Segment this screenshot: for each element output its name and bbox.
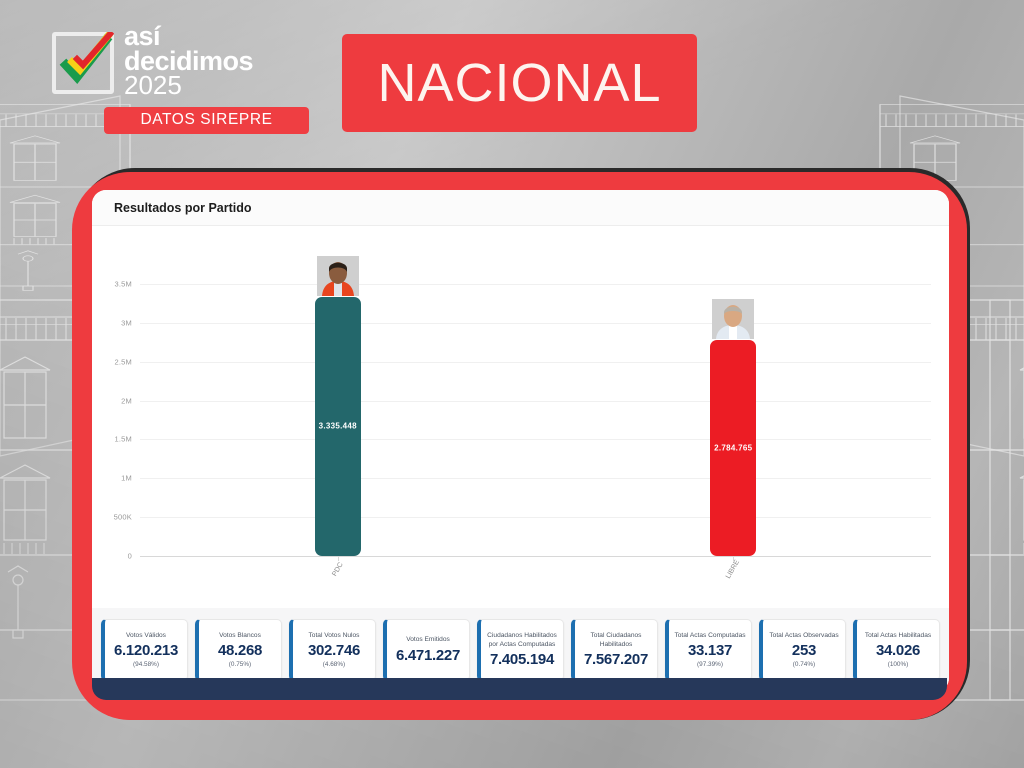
stat-card-value: 7.405.194	[490, 651, 554, 668]
x-axis-category-label: PDC	[331, 561, 344, 577]
stat-card-value: 33.137	[688, 642, 732, 659]
stat-card[interactable]: Votos Emitidos6.471.227	[383, 619, 470, 681]
stat-card-percent: (4.68%)	[323, 661, 345, 668]
stat-card[interactable]: Votos Blancos48.268(0.75%)	[195, 619, 282, 681]
y-axis-tick-label: 2M	[121, 396, 132, 405]
chart-gridline	[140, 517, 931, 518]
logo-tagline: DATOS SIREPRE	[104, 107, 309, 134]
stat-card-label: Total Votos Nulos	[309, 632, 360, 640]
stat-card-value: 302.746	[308, 642, 360, 659]
chart-gridline	[140, 362, 931, 363]
stat-card-percent: (97.39%)	[697, 661, 723, 668]
stat-card-label: Votos Blancos	[219, 632, 261, 640]
y-axis-tick-label: 2.5M	[115, 357, 132, 366]
chart-gridline	[140, 439, 931, 440]
chart-plot-area: 3.335.448PDC2.784.765LIBRE	[140, 284, 931, 556]
results-frame: Resultados por Partido 0500K1M1.5M2M2.5M…	[72, 172, 967, 720]
stat-card-percent: (0.74%)	[793, 661, 815, 668]
y-axis-tick-label: 1.5M	[115, 435, 132, 444]
results-chart: 0500K1M1.5M2M2.5M3M3.5M 3.335.448PDC2.78…	[92, 226, 949, 608]
chart-bar-libre[interactable]: 2.784.765	[710, 340, 756, 556]
stat-card-label: Votos Emitidos	[406, 636, 450, 644]
chart-gridline	[140, 401, 931, 402]
results-panel: Resultados por Partido 0500K1M1.5M2M2.5M…	[92, 190, 949, 692]
scope-banner-title: NACIONAL	[377, 52, 661, 114]
panel-title-bar: Resultados por Partido	[92, 190, 949, 226]
chart-bar-value-label: 2.784.765	[714, 443, 752, 452]
stat-card-value: 7.567.207	[584, 651, 648, 668]
checkmark-icon	[52, 32, 114, 94]
y-axis-tick-label: 3.5M	[115, 280, 132, 289]
stat-card[interactable]: Ciudadanos Habilitados por Actas Computa…	[477, 619, 564, 681]
candidate-photo-pdc	[317, 256, 359, 296]
frame-navy-band	[92, 678, 947, 700]
chart-bar-slot: 2.784.765LIBRE	[710, 284, 756, 556]
stat-card[interactable]: Votos Válidos6.120.213(94.58%)	[101, 619, 188, 681]
stat-card[interactable]: Total Actas Computadas33.137(97.39%)	[665, 619, 752, 681]
stat-card-label: Votos Válidos	[126, 632, 166, 640]
y-axis-tick-label: 500K	[114, 513, 132, 522]
stat-card-label: Total Actas Computadas	[674, 632, 745, 640]
candidate-photo-libre	[712, 299, 754, 339]
stat-card-label: Total Actas Habilitadas	[865, 632, 931, 640]
brand-logo: así decidimos 2025 DATOS SIREPRE	[52, 24, 322, 134]
stat-card-value: 34.026	[876, 642, 920, 659]
x-axis-category-label: LIBRE	[725, 559, 741, 580]
stat-card-percent: (94.58%)	[133, 661, 159, 668]
chart-bar-slot: 3.335.448PDC	[315, 284, 361, 556]
chart-y-axis: 0500K1M1.5M2M2.5M3M3.5M	[92, 284, 138, 556]
chart-bar-value-label: 3.335.448	[319, 422, 357, 431]
stat-card[interactable]: Total Votos Nulos302.746(4.68%)	[289, 619, 376, 681]
y-axis-tick-label: 0	[128, 552, 132, 561]
scope-banner: NACIONAL	[342, 34, 697, 132]
chart-gridline	[140, 556, 931, 557]
stat-card-value: 6.471.227	[396, 647, 460, 664]
y-axis-tick-label: 3M	[121, 318, 132, 327]
stat-card-label: Total Ciudadanos Habilitados	[578, 632, 654, 648]
page-header: así decidimos 2025 DATOS SIREPRE NACIONA…	[0, 0, 1024, 160]
y-axis-tick-label: 1M	[121, 474, 132, 483]
page-title: Resultados por Partido	[114, 201, 252, 215]
chart-gridline	[140, 478, 931, 479]
stat-card[interactable]: Total Ciudadanos Habilitados7.567.207	[571, 619, 658, 681]
stat-card-value: 48.268	[218, 642, 262, 659]
stat-card-value: 253	[792, 642, 816, 659]
stat-card-label: Total Actas Observadas	[769, 632, 838, 640]
stat-card-percent: (100%)	[888, 661, 909, 668]
stat-card[interactable]: Total Actas Observadas253(0.74%)	[759, 619, 846, 681]
chart-bar-pdc[interactable]: 3.335.448	[315, 297, 361, 556]
stat-card-value: 6.120.213	[114, 642, 178, 659]
stat-card-percent: (0.75%)	[229, 661, 251, 668]
stat-card-label: Ciudadanos Habilitados por Actas Computa…	[484, 632, 560, 648]
stat-card[interactable]: Total Actas Habilitadas34.026(100%)	[853, 619, 940, 681]
chart-gridline	[140, 284, 931, 285]
chart-gridline	[140, 323, 931, 324]
logo-line-3: 2025	[124, 74, 253, 98]
